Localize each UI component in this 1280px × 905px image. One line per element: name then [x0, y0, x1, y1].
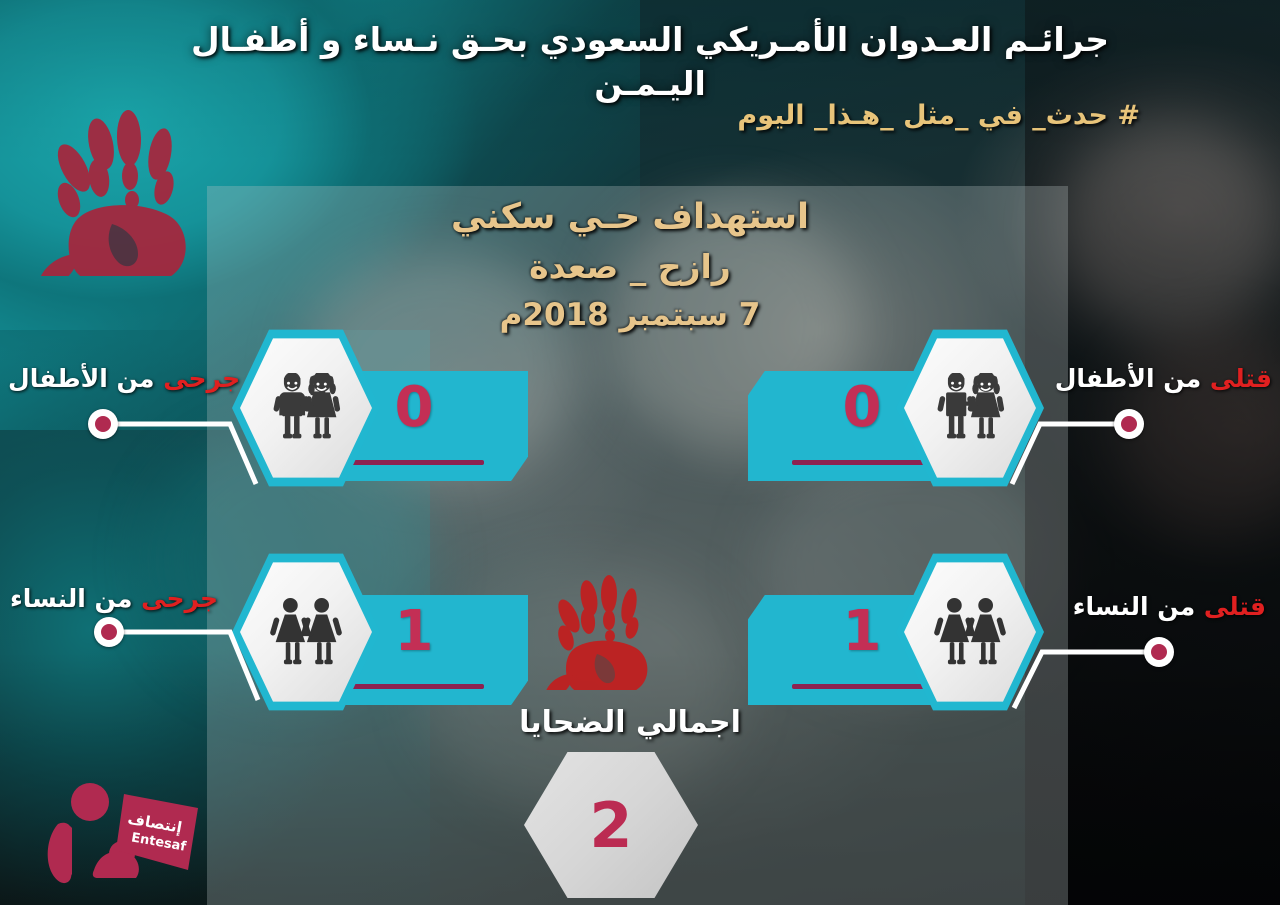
label-rest: من الأطفال	[8, 364, 163, 393]
event-headline: استهداف حـي سكني	[350, 196, 910, 240]
event-info: استهداف حـي سكني رازح _ صعدة 7 سبتمبر 20…	[350, 196, 910, 335]
total-victims-hex: 2	[524, 752, 698, 898]
total-victims-label: اجمالي الضحايا	[420, 705, 840, 740]
stat-badge-women-killed[interactable]: 1	[752, 552, 1044, 712]
label-children-killed: قتلى من الأطفال	[1055, 364, 1272, 393]
header: جرائـم العـدوان الأمـريكي السعودي بحـق ن…	[0, 0, 1280, 185]
connector-dot-women-killed	[1144, 637, 1174, 667]
label-rest: من النساء	[1073, 592, 1204, 621]
entesaf-logo[interactable]: إنتصاف Entesaf	[38, 778, 208, 888]
label-keyword: قتلى	[1204, 592, 1266, 621]
label-children-injured: جرحى من الأطفال	[8, 364, 240, 393]
hashtag-label: # حدث_ في _مثل _هـذا_ اليوم	[737, 100, 1140, 131]
label-keyword: جرحى	[163, 364, 240, 393]
label-keyword: جرحى	[141, 584, 218, 613]
handprint-icon-center	[542, 564, 652, 690]
connector-dot-women-injured	[94, 617, 124, 647]
label-keyword: قتلى	[1210, 364, 1272, 393]
page-title: جرائـم العـدوان الأمـريكي السعودي بحـق ن…	[150, 18, 1150, 105]
label-rest: من الأطفال	[1055, 364, 1210, 393]
label-rest: من النساء	[10, 584, 141, 613]
stat-badge-women-injured[interactable]: 1	[232, 552, 524, 712]
stat-hex	[232, 328, 380, 488]
label-women-injured: جرحى من النساء	[10, 584, 218, 613]
stat-badge-children-injured[interactable]: 0	[232, 328, 524, 488]
connector-dot-children-killed	[1114, 409, 1144, 439]
total-victims-value: 2	[524, 752, 698, 898]
stat-hex	[896, 328, 1044, 488]
label-women-killed: قتلى من النساء	[1073, 592, 1266, 621]
stat-hex	[232, 552, 380, 712]
stat-badge-children-killed[interactable]: 0	[752, 328, 1044, 488]
event-location: رازح _ صعدة	[350, 246, 910, 289]
stat-hex	[896, 552, 1044, 712]
connector-dot-children-injured	[88, 409, 118, 439]
